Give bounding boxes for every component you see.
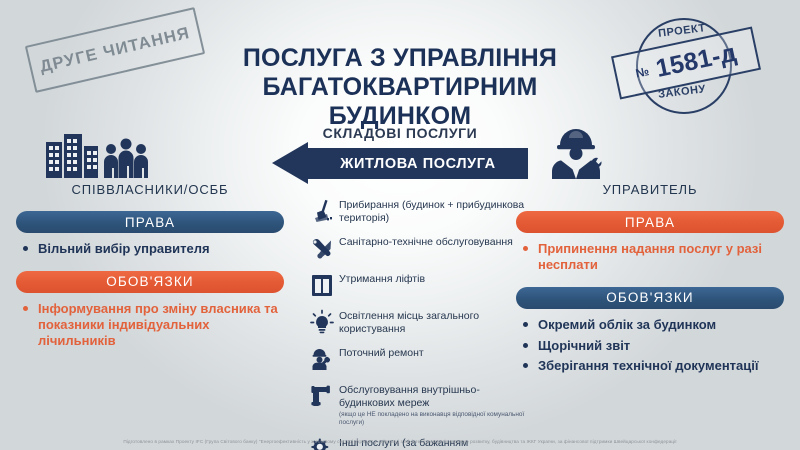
list-item: Окремий облік за будинком bbox=[516, 317, 784, 333]
list-item: Обслуговування внутрішньо-будинкових мер… bbox=[305, 381, 535, 427]
stamp-label: ДРУГЕ ЧИТАННЯ bbox=[38, 23, 192, 76]
list-item: Припинення надання послуг у разі несплат… bbox=[516, 241, 784, 273]
services-list: Прибирання (будинок + прибудинкова терит… bbox=[305, 196, 535, 450]
persona-label: УПРАВИТЕЛЬ bbox=[516, 182, 784, 197]
left-duties-list: Інформування про зміну власника та показ… bbox=[16, 301, 284, 349]
list-item: Санітарно-технічне обслуговування bbox=[305, 233, 535, 263]
services-caption: СКЛАДОВІ ПОСЛУГИ bbox=[272, 125, 528, 141]
worker-repair-icon bbox=[305, 344, 339, 374]
footer-credit: Підготовлено в рамках Проекту IFC (Група… bbox=[0, 439, 800, 444]
list-item: Інформування про зміну власника та показ… bbox=[16, 301, 284, 349]
law-number: 1581-д bbox=[653, 38, 739, 83]
page-title: ПОСЛУГА З УПРАВЛІННЯ БАГАТОКВАРТИРНИМ БУ… bbox=[190, 44, 610, 131]
list-item: Утримання ліфтів bbox=[305, 270, 535, 300]
list-item-label: Освітлення місць загального користування bbox=[339, 307, 535, 336]
list-item-text: Обслуговування внутрішньо-будинкових мер… bbox=[339, 384, 480, 409]
list-item: Зберігання технічної документації bbox=[516, 358, 784, 374]
lightbulb-icon bbox=[305, 307, 339, 337]
pipe-icon bbox=[305, 381, 339, 411]
list-item-label: Прибирання (будинок + прибудинкова терит… bbox=[339, 196, 535, 225]
list-item: Прибирання (будинок + прибудинкова терит… bbox=[305, 196, 535, 226]
list-item: Освітлення місць загального користування bbox=[305, 307, 535, 337]
left-duties-header: ОБОВ'ЯЗКИ bbox=[16, 271, 284, 293]
list-item-label: Санітарно-технічне обслуговування bbox=[339, 233, 513, 249]
number-sign: № bbox=[634, 64, 650, 81]
list-item: Поточний ремонт bbox=[305, 344, 535, 374]
building-people-icon bbox=[16, 128, 284, 180]
list-item: Вільний вибір управителя bbox=[16, 241, 284, 257]
left-rights-header: ПРАВА bbox=[16, 211, 284, 233]
title-line-1: ПОСЛУГА З УПРАВЛІННЯ bbox=[190, 44, 610, 73]
right-rights-header: ПРАВА bbox=[516, 211, 784, 233]
list-item-note: (якщо це НЕ покладено на виконавця відпо… bbox=[339, 411, 535, 427]
title-line-2: БАГАТОКВАРТИРНИМ БУДИНКОМ bbox=[190, 73, 610, 131]
right-duties-list: Окремий облік за будинком Щорічний звіт … bbox=[516, 317, 784, 375]
second-reading-stamp: ДРУГЕ ЧИТАННЯ bbox=[25, 7, 205, 93]
list-item: Щорічний звіт bbox=[516, 338, 784, 354]
list-item-label: Утримання ліфтів bbox=[339, 270, 425, 286]
manager-icon bbox=[516, 128, 784, 180]
wrench-screwdriver-icon bbox=[305, 233, 339, 263]
right-duties-header: ОБОВ'ЯЗКИ bbox=[516, 287, 784, 309]
persona-label: СПІВВЛАСНИКИ/ОСББ bbox=[16, 182, 284, 197]
infographic-canvas: ДРУГЕ ЧИТАННЯ ПРОЕКТ ЗАКОНУ № 1581-д ПОС… bbox=[0, 0, 800, 450]
housing-service-arrow: ЖИТЛОВА ПОСЛУГА bbox=[272, 148, 528, 179]
left-rights-list: Вільний вибір управителя bbox=[16, 241, 284, 257]
arrow-label: ЖИТЛОВА ПОСЛУГА bbox=[308, 148, 528, 179]
co-owners-persona: СПІВВЛАСНИКИ/ОСББ bbox=[16, 128, 284, 197]
manager-panel: УПРАВИТЕЛЬ ПРАВА Припинення надання посл… bbox=[516, 128, 784, 379]
manager-persona: УПРАВИТЕЛЬ bbox=[516, 128, 784, 197]
elevator-icon bbox=[305, 270, 339, 300]
draft-law-seal: ПРОЕКТ ЗАКОНУ № 1581-д bbox=[614, 12, 754, 116]
co-owners-panel: СПІВВЛАСНИКИ/ОСББ ПРАВА Вільний вибір уп… bbox=[16, 128, 284, 353]
broom-icon bbox=[305, 196, 339, 226]
list-item-label: Поточний ремонт bbox=[339, 344, 424, 360]
list-item-label: Обслуговування внутрішньо-будинкових мер… bbox=[339, 381, 535, 427]
right-rights-list: Припинення надання послуг у разі несплат… bbox=[516, 241, 784, 273]
